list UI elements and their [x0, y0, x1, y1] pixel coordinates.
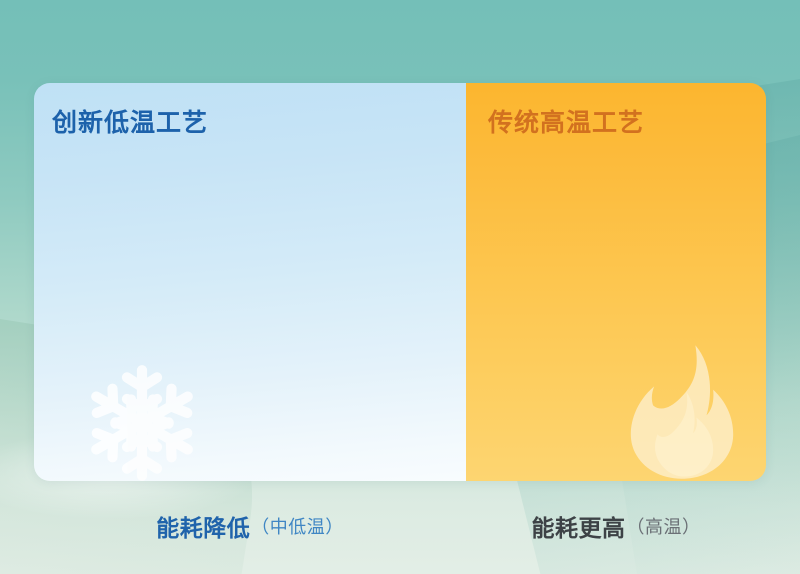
- panel-cold-title: 创新低温工艺: [52, 111, 208, 136]
- comparison-card: 创新低温工艺: [34, 83, 766, 481]
- caption-hot: 能耗更高 （高温）: [466, 498, 766, 554]
- caption-hot-main: 能耗更高: [532, 509, 626, 543]
- caption-cold-sub: （中低温）: [251, 513, 344, 539]
- snowflake-icon: [82, 359, 202, 481]
- caption-hot-sub: （高温）: [627, 513, 701, 539]
- caption-cold-main: 能耗降低: [156, 509, 250, 543]
- flame-icon: [626, 343, 738, 481]
- caption-row: 能耗降低 （中低温） 能耗更高 （高温）: [34, 498, 766, 554]
- comparison-diagram: 创新低温工艺: [0, 0, 800, 574]
- panel-hot-title: 传统高温工艺: [488, 111, 644, 136]
- panel-cold-process: 创新低温工艺: [34, 83, 466, 481]
- caption-cold: 能耗降低 （中低温）: [34, 498, 466, 554]
- panel-hot-process: 传统高温工艺: [466, 83, 766, 481]
